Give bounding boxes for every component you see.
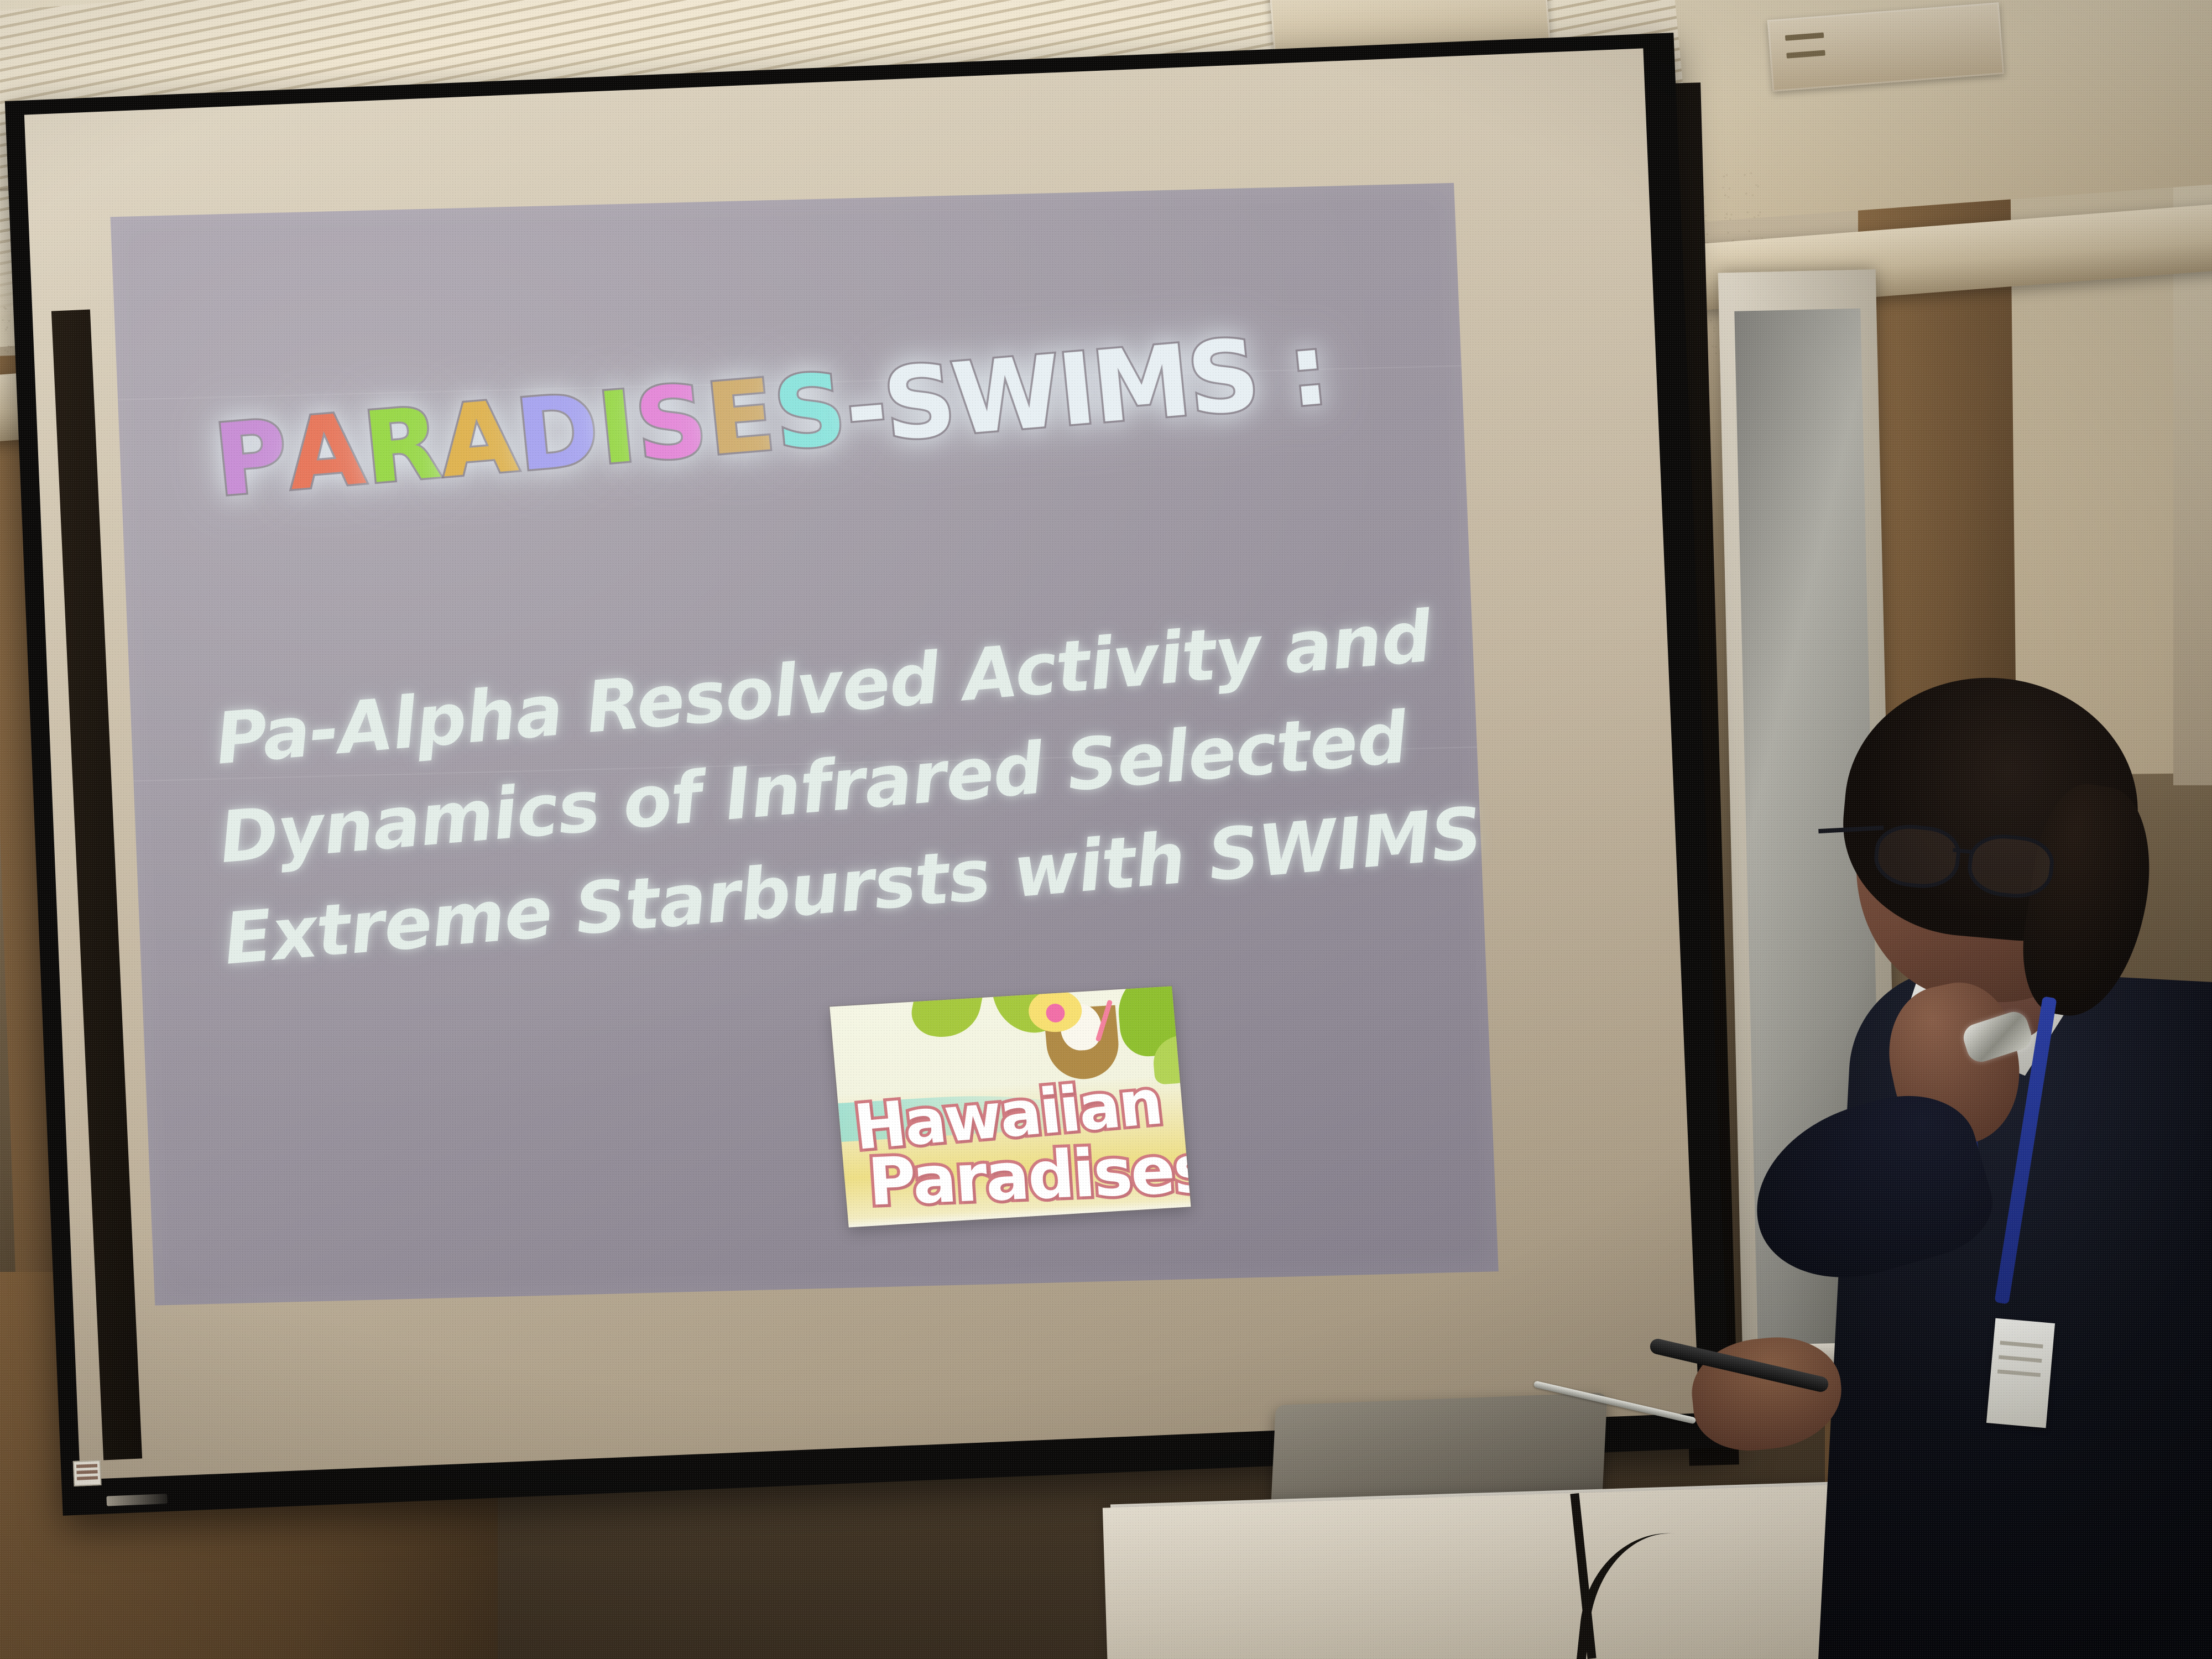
glasses-lens-left [1871, 821, 1963, 891]
title-letter-s1: S [631, 372, 709, 476]
title-suffix-swims: -SWIMS : [841, 320, 1331, 458]
leaf-icon [1115, 986, 1191, 1058]
title-letter-a1: A [283, 400, 367, 504]
logo-line-2: Paradises [865, 1130, 1191, 1220]
title-letter-a2: A [436, 388, 519, 492]
title-letter-e: E [702, 366, 777, 469]
screen-fabric: P A R A D I S E S -SWIMS : Pa-Alpha Reso… [24, 48, 1699, 1479]
slide-title: P A R A D I S E S -SWIMS : [211, 320, 1331, 510]
projection-screen: P A R A D I S E S -SWIMS : Pa-Alpha Reso… [5, 33, 1731, 1516]
photo-scene: P A R A D I S E S -SWIMS : Pa-Alpha Reso… [0, 0, 2212, 1659]
screen-spec-label [73, 1460, 102, 1486]
title-letter-s2: S [770, 361, 848, 465]
name-badge [1986, 1318, 2055, 1428]
glasses-lens-right [1965, 831, 2056, 901]
hawaiian-paradises-logo: Hawaiian Paradises [830, 986, 1191, 1227]
leaf-icon [908, 986, 985, 1045]
presenter [1792, 686, 2212, 1659]
title-letter-d: D [512, 381, 601, 486]
title-letter-i: I [594, 378, 638, 478]
projected-slide: P A R A D I S E S -SWIMS : Pa-Alpha Reso… [111, 183, 1499, 1306]
title-letter-p: P [211, 406, 290, 510]
title-letter-r: R [359, 394, 442, 498]
